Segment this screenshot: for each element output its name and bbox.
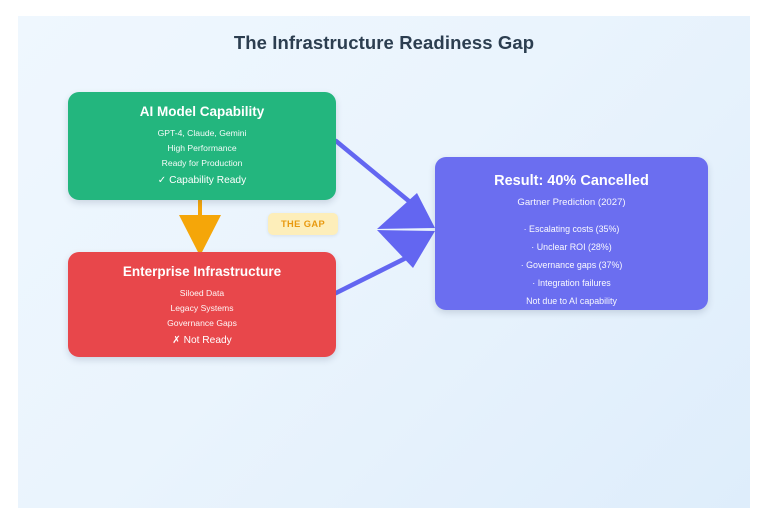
gap-arrow-icon (179, 200, 221, 256)
node-title: AI Model Capability (68, 102, 336, 122)
node-status-not-ready: ✗ Not Ready (68, 332, 336, 350)
page-title: The Infrastructure Readiness Gap (18, 32, 750, 54)
gap-badge: THE GAP (268, 213, 338, 235)
node-ai-model-capability[interactable]: AI Model Capability GPT-4, Claude, Gemin… (68, 92, 336, 200)
node-title: Result: 40% Cancelled (435, 171, 708, 192)
node-enterprise-infrastructure[interactable]: Enterprise Infrastructure Siloed Data Le… (68, 252, 336, 357)
node-bullet: · Escalating costs (35%) (435, 221, 708, 239)
node-detail-line: High Performance (68, 141, 336, 156)
node-bullet: · Integration failures (435, 275, 708, 293)
node-detail-line: Governance Gaps (68, 316, 336, 331)
flow-arrow-top-icon (336, 141, 435, 229)
node-detail-line: Ready for Production (68, 156, 336, 171)
node-detail-line: GPT-4, Claude, Gemini (68, 126, 336, 141)
node-title: Enterprise Infrastructure (68, 262, 336, 282)
node-detail-line: Legacy Systems (68, 301, 336, 316)
flow-arrow-bottom-icon (336, 230, 435, 293)
node-detail-line: Siloed Data (68, 286, 336, 301)
node-result[interactable]: Result: 40% Cancelled Gartner Prediction… (435, 157, 708, 310)
diagram-canvas: The Infrastructure Readiness Gap AI Mode… (18, 16, 750, 508)
node-subtitle: Gartner Prediction (2027) (435, 195, 708, 211)
node-bullet: · Unclear ROI (28%) (435, 239, 708, 257)
node-status-ready: ✓ Capability Ready (68, 172, 336, 190)
gap-badge-label: THE GAP (281, 219, 325, 229)
node-bullet: · Governance gaps (37%) (435, 257, 708, 275)
node-footer: Not due to AI capability (435, 293, 708, 311)
